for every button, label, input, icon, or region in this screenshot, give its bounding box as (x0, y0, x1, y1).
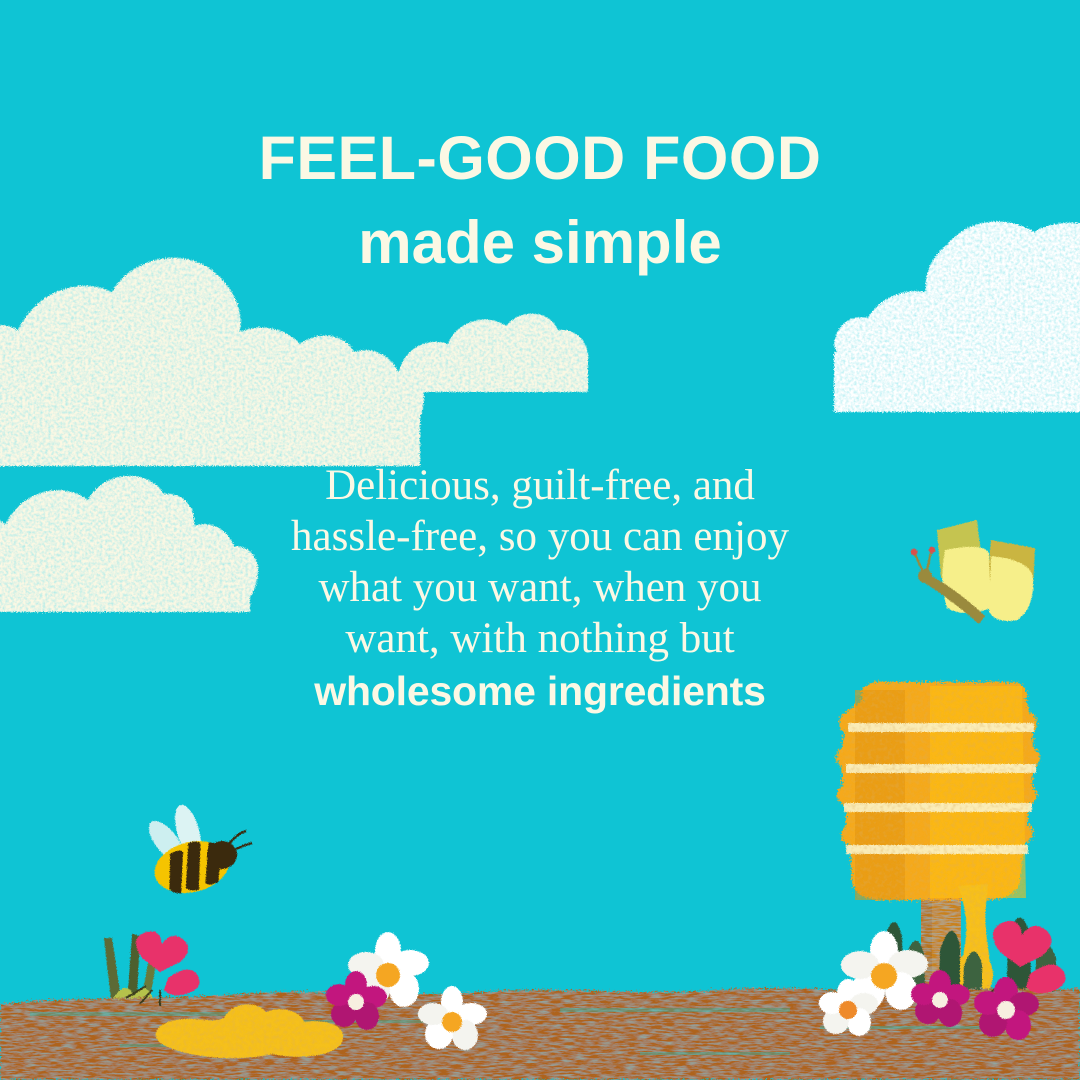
ground-layer (0, 0, 1080, 1080)
poster-canvas: FEEL-GOOD FOOD made simple Delicious, gu… (0, 0, 1080, 1080)
